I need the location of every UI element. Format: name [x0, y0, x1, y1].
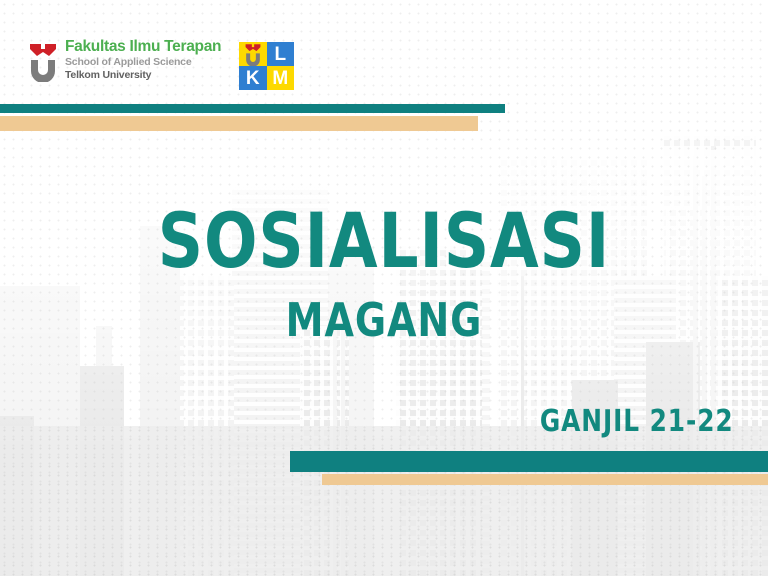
ulkm-cell-telkom-mark-icon — [239, 42, 267, 66]
logo-line-faculty: Fakultas Ilmu Terapan — [65, 39, 221, 55]
city-skyline-background — [0, 0, 768, 576]
ulkm-cell-m: M — [267, 66, 295, 90]
ground-haze-band — [0, 426, 768, 576]
bottom-teal-bar — [290, 451, 768, 472]
slide-subtitle: MAGANG — [31, 297, 738, 343]
top-teal-bar — [0, 104, 505, 113]
logo-wordmark: Fakultas Ilmu Terapan School of Applied … — [65, 38, 221, 80]
bottom-tan-bar — [322, 474, 768, 485]
presentation-slide: Fakultas Ilmu Terapan School of Applied … — [0, 0, 768, 576]
top-tan-bar — [0, 116, 478, 131]
fakultas-ilmu-terapan-logo: Fakultas Ilmu Terapan School of Applied … — [28, 38, 221, 82]
ulkm-cell-k: K — [239, 66, 267, 90]
slide-title: SOSIALISASI — [31, 206, 738, 276]
logo-line-school: School of Applied Science — [65, 57, 221, 68]
ulkm-cell-l: L — [267, 42, 295, 66]
ulkm-logo: L K M — [239, 42, 294, 90]
slide-term-label: GANJIL 21-22 — [540, 407, 734, 437]
logo-line-university: Telkom University — [65, 70, 221, 81]
telkom-university-mark-icon — [28, 40, 58, 82]
